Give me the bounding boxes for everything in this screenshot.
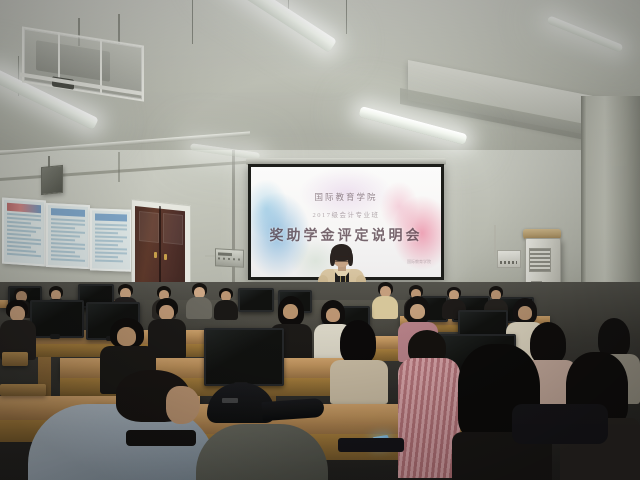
notice-board [90, 208, 132, 271]
chair[interactable] [2, 352, 28, 366]
slide-subtitle-class: 2017级会计专业班 [251, 209, 441, 219]
wall-speaker-icon [41, 165, 63, 195]
notice-board [46, 203, 90, 269]
slide-watermark: 国际教育学院 [407, 259, 431, 265]
student-pink-striped [398, 330, 460, 480]
classroom-photo: 国际教育学院 2017级会计专业班 奖助学金评定说明会 国际教育学院 [0, 0, 640, 480]
student [214, 288, 238, 316]
door-panel [139, 211, 159, 243]
ac-vent-grille [529, 248, 551, 272]
notice-board [2, 197, 46, 266]
notice-board-header [7, 203, 41, 213]
keyboard [126, 430, 196, 446]
cap-logo [222, 398, 238, 403]
notice-board-text [48, 218, 88, 262]
projector-mount-rod [118, 14, 120, 44]
wall-socket-box [497, 250, 521, 268]
slide-main-title: 奖助学金评定说明会 [251, 225, 441, 245]
notice-board-text [92, 223, 130, 262]
keyboard [338, 438, 404, 452]
monitor [238, 288, 274, 312]
light-suspension-wire [192, 0, 193, 44]
wall-conduit [118, 152, 120, 182]
door-panel [163, 213, 183, 245]
monitor [204, 328, 284, 386]
notice-board-header [51, 208, 85, 217]
wall-pipe [494, 225, 496, 257]
student [0, 300, 36, 356]
foreground-person-cap [196, 418, 328, 480]
slide-subtitle-org: 国际教育学院 [251, 191, 441, 203]
monitor-stand [50, 334, 60, 339]
door-handle[interactable] [154, 252, 157, 258]
bag-on-desk [512, 404, 608, 444]
door-handle[interactable] [164, 254, 167, 260]
notice-board-header [95, 213, 127, 221]
notice-board-text [4, 213, 44, 258]
wall-control-panel[interactable] [215, 248, 244, 268]
student [330, 320, 388, 394]
presenter-glasses-icon [334, 256, 351, 262]
student [186, 283, 212, 316]
light-suspension-wire [346, 0, 347, 34]
student [372, 282, 398, 316]
monitor [30, 300, 84, 338]
